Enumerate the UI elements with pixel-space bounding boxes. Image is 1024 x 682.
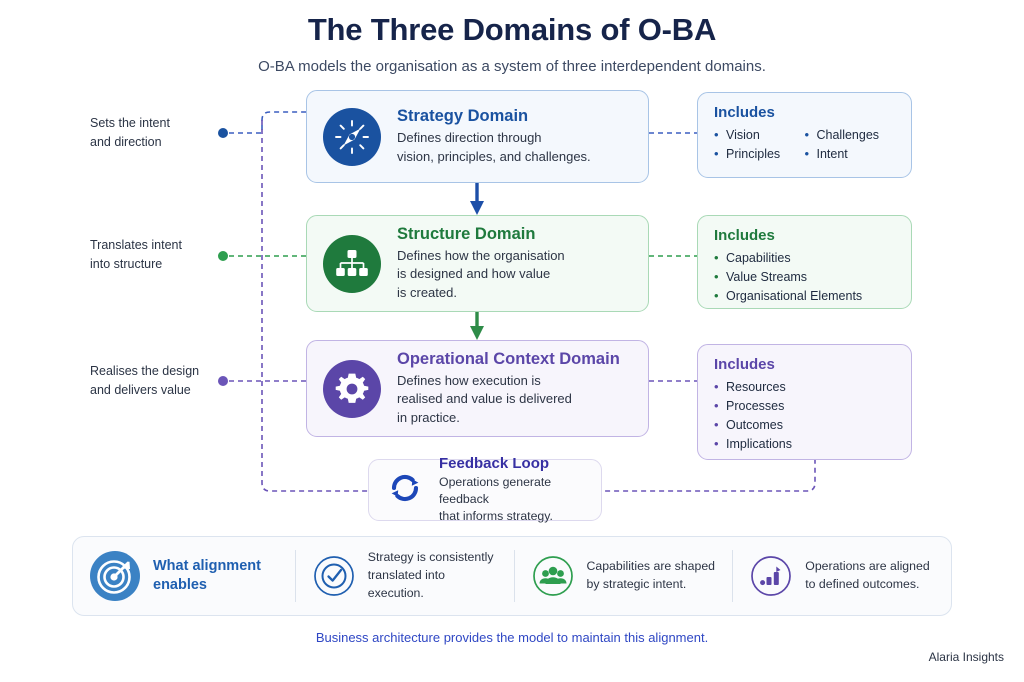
list-item: Challenges xyxy=(805,126,896,145)
domain-desc-operational-l2: realised and value is delivered xyxy=(397,391,572,406)
list-item: Intent xyxy=(805,145,896,164)
alignment-item-strategy: Strategy is consistently translated into… xyxy=(296,537,514,615)
includes-list-operational: Resources Processes Outcomes Implication… xyxy=(714,378,895,454)
annotation-strategy-line2: and direction xyxy=(90,133,240,152)
domain-desc-structure-l1: Defines how the organisation xyxy=(397,248,565,263)
list-item: Outcomes xyxy=(714,416,895,435)
compass-icon xyxy=(323,108,381,166)
annotation-structure-line2: into structure xyxy=(90,255,240,274)
list-item: Capabilities xyxy=(714,249,895,268)
includes-title-strategy: Includes xyxy=(714,104,895,121)
alignment-lead-line2: enables xyxy=(153,577,207,593)
domain-card-operational[interactable]: Operational Context Domain Defines how e… xyxy=(306,340,649,437)
target-icon xyxy=(89,550,141,602)
includes-title-operational: Includes xyxy=(714,356,895,373)
list-item: Processes xyxy=(714,397,895,416)
list-item: Vision xyxy=(714,126,805,145)
gear-icon xyxy=(323,360,381,418)
domain-desc-strategy-l1: Defines direction through xyxy=(397,130,542,145)
alignment-lead: What alignment enables xyxy=(73,537,295,615)
domain-desc-structure-l3: is created. xyxy=(397,285,457,300)
credit-label: Alaria Insights xyxy=(929,650,1004,664)
domain-title-structure: Structure Domain xyxy=(397,225,632,244)
domain-title-strategy: Strategy Domain xyxy=(397,107,632,126)
alignment-lead-line1: What alignment xyxy=(153,558,261,574)
list-item: Organisational Elements xyxy=(714,287,895,306)
domain-desc-operational-l1: Defines how execution is xyxy=(397,373,541,388)
alignment-item-operations-line2: to defined outcomes. xyxy=(805,577,919,591)
footer-note: Business architecture provides the model… xyxy=(0,630,1024,645)
domain-desc-structure-l2: is designed and how value xyxy=(397,266,550,281)
bar-chart-icon xyxy=(749,554,793,598)
check-circle-icon xyxy=(312,554,356,598)
feedback-loop-line1: Operations generate feedback xyxy=(439,475,551,506)
feedback-loop-line2: that informs strategy. xyxy=(439,509,553,523)
includes-box-operational: Includes Resources Processes Outcomes Im… xyxy=(697,344,912,460)
alignment-item-strategy-line2: translated into execution. xyxy=(368,568,445,600)
alignment-item-operations: Operations are aligned to defined outcom… xyxy=(733,537,951,615)
refresh-loop-icon xyxy=(383,466,427,515)
annotation-dot-strategy xyxy=(218,128,228,138)
feedback-loop-title: Feedback Loop xyxy=(439,455,587,472)
includes-list-structure: Capabilities Value Streams Organisationa… xyxy=(714,249,895,306)
domain-desc-strategy-l2: vision, principles, and challenges. xyxy=(397,149,591,164)
list-item: Principles xyxy=(714,145,805,164)
includes-box-strategy: Includes Vision Challenges Principles In… xyxy=(697,92,912,178)
domain-title-operational: Operational Context Domain xyxy=(397,350,632,369)
domain-card-strategy[interactable]: Strategy Domain Defines direction throug… xyxy=(306,90,649,183)
infographic-canvas: The Three Domains of O-BA O-BA models th… xyxy=(0,0,1024,682)
alignment-summary-bar: What alignment enables Strategy is consi… xyxy=(72,536,952,616)
annotation-dot-structure xyxy=(218,251,228,261)
alignment-item-strategy-line1: Strategy is consistently xyxy=(368,550,494,564)
list-item: Implications xyxy=(714,435,895,454)
alignment-item-capabilities-line2: by strategic intent. xyxy=(587,577,687,591)
list-item: Value Streams xyxy=(714,268,895,287)
includes-list-strategy: Vision Challenges Principles Intent xyxy=(714,126,895,164)
feedback-loop-card[interactable]: Feedback Loop Operations generate feedba… xyxy=(368,459,602,521)
annotation-dot-operational xyxy=(218,376,228,386)
hierarchy-icon xyxy=(323,235,381,293)
domain-card-structure[interactable]: Structure Domain Defines how the organis… xyxy=(306,215,649,312)
domain-desc-operational-l3: in practice. xyxy=(397,410,460,425)
people-group-icon xyxy=(531,554,575,598)
annotation-structure-line1: Translates intent xyxy=(90,236,240,255)
alignment-item-operations-line1: Operations are aligned xyxy=(805,559,929,573)
includes-title-structure: Includes xyxy=(714,227,895,244)
alignment-item-capabilities: Capabilities are shaped by strategic int… xyxy=(515,537,733,615)
list-item: Resources xyxy=(714,378,895,397)
alignment-item-capabilities-line1: Capabilities are shaped xyxy=(587,559,716,573)
includes-box-structure: Includes Capabilities Value Streams Orga… xyxy=(697,215,912,309)
